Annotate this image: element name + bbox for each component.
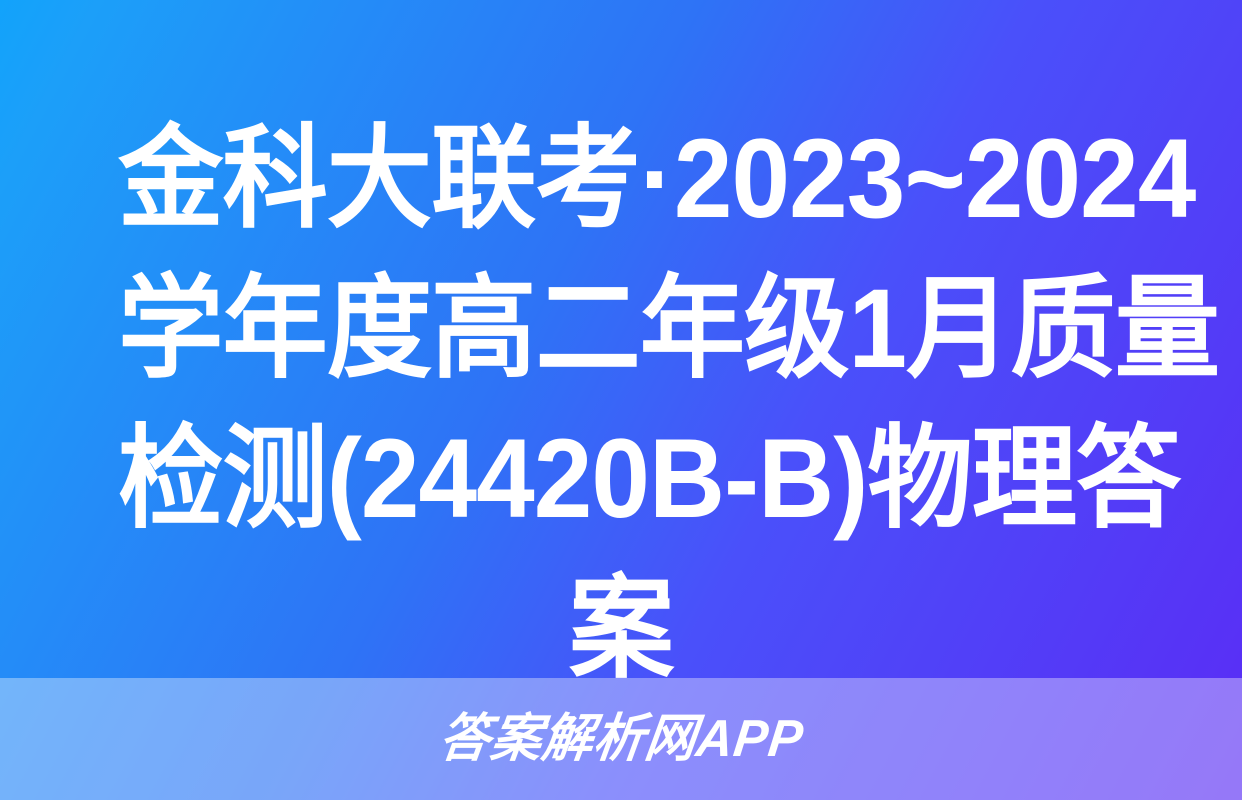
headline-line-3: 检测(24420B-B)物理答 bbox=[118, 404, 1124, 554]
exam-answer-cover-card: 金科大联考·2023~2024 学年度高二年级1月质量 检测(24420B-B)… bbox=[0, 0, 1242, 800]
footer-app-watermark: 答案解析网APP bbox=[436, 713, 806, 765]
headline-block: 金科大联考·2023~2024 学年度高二年级1月质量 检测(24420B-B)… bbox=[0, 104, 1242, 704]
headline-line-2: 学年度高二年级1月质量 bbox=[118, 254, 1124, 404]
headline-line-1: 金科大联考·2023~2024 bbox=[118, 104, 1124, 254]
footer-watermark-band: 答案解析网APP bbox=[0, 678, 1242, 800]
